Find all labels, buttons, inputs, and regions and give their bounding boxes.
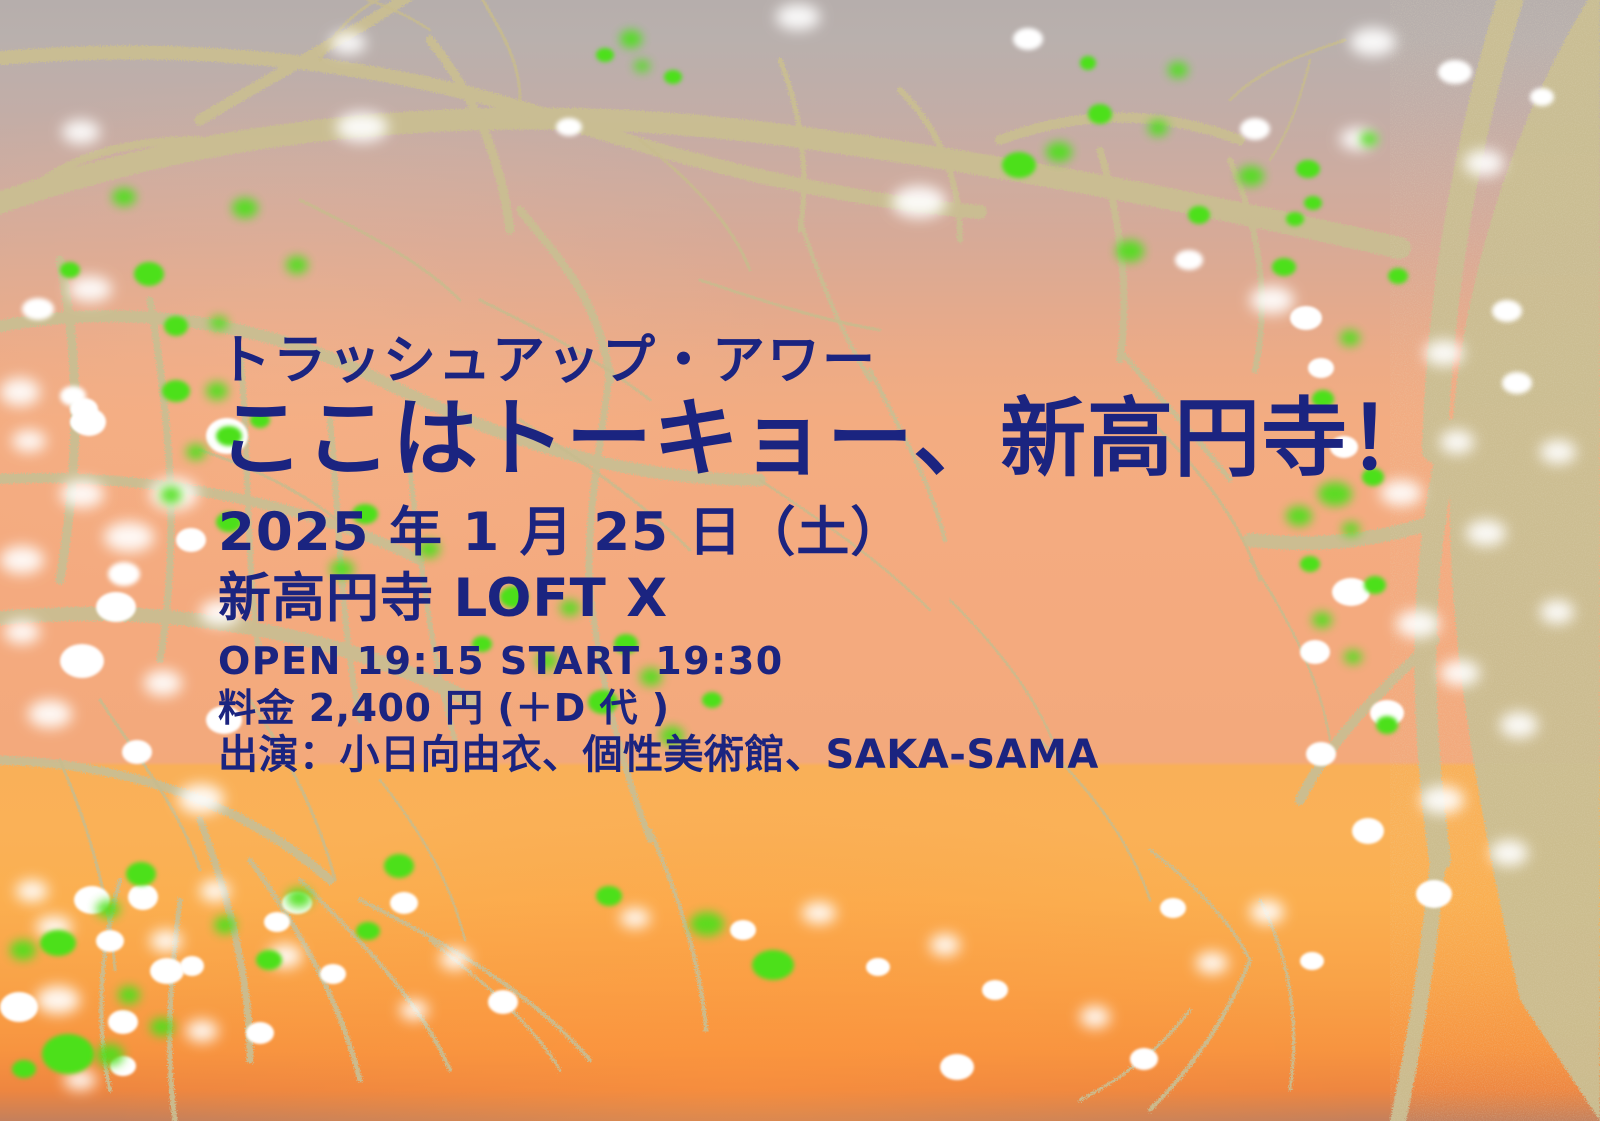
blossom-petal (60, 644, 104, 678)
blossom-petal (96, 930, 124, 952)
blossom-petal (1416, 880, 1452, 908)
blossom-petal (268, 944, 302, 968)
green-leaf (1238, 166, 1264, 186)
green-leaf (664, 70, 682, 84)
blossom-petal (982, 980, 1008, 1000)
blossom-petal (488, 990, 518, 1014)
blossom-petal (144, 670, 182, 696)
blossom-petal (1175, 250, 1203, 270)
green-leaf (1286, 212, 1304, 226)
blossom-petal (16, 880, 48, 902)
blossom-petal (4, 620, 40, 644)
blossom-petal (1440, 660, 1480, 686)
green-leaf (60, 262, 80, 278)
green-leaf (256, 950, 282, 970)
blossom-petal (940, 1054, 974, 1080)
green-leaf (1360, 132, 1378, 146)
blossom-petal (176, 528, 206, 552)
green-leaf (210, 316, 228, 330)
blossom-petal (1464, 150, 1504, 176)
green-leaf (1168, 62, 1188, 78)
blossom-petal (0, 992, 38, 1022)
blossom-petal (1352, 818, 1384, 844)
blossom-petal (62, 120, 100, 144)
green-leaf (214, 916, 236, 934)
blossom-petal (1540, 600, 1574, 624)
green-leaf (620, 30, 642, 48)
blossom-petal (866, 958, 890, 976)
blossom-petal (200, 880, 230, 902)
blossom-petal (440, 948, 470, 970)
green-leaf (42, 1034, 94, 1074)
green-leaf (384, 854, 414, 878)
blossom-petal (264, 912, 290, 932)
blossom-petal (892, 186, 946, 218)
blossom-petal (1290, 306, 1322, 330)
blossom-petal (1250, 900, 1284, 924)
green-leaf (96, 900, 120, 918)
green-leaf (356, 922, 380, 940)
green-leaf (1080, 56, 1096, 70)
blossom-petal (1160, 898, 1186, 918)
blossom-petal (36, 986, 80, 1014)
green-leaf (690, 912, 724, 936)
green-leaf (162, 380, 190, 402)
blossom-petal (320, 964, 346, 984)
blossom-petal (150, 478, 198, 510)
green-leaf (1088, 104, 1112, 124)
green-leaf (96, 1044, 124, 1066)
blossom-petal (12, 430, 46, 452)
blossom-petal (180, 956, 204, 976)
blossom-petal (1080, 1006, 1110, 1028)
event-price: 料金 2,400 円 (＋D 代 ) (218, 689, 1435, 727)
blossom-petal (400, 1000, 428, 1020)
blossom-petal (60, 386, 86, 406)
event-poster: トラッシュアップ・アワー ここはトーキョー、新高円寺！ 2025 年 1 月 2… (0, 0, 1600, 1121)
blossom-petal (1300, 952, 1324, 970)
blossom-petal (128, 884, 158, 910)
green-leaf (186, 444, 206, 460)
blossom-petal (1438, 60, 1472, 84)
green-leaf (232, 198, 258, 218)
green-leaf (1272, 258, 1296, 276)
blossom-petal (1250, 286, 1294, 314)
blossom-petal (104, 522, 154, 552)
blossom-petal (0, 378, 40, 406)
green-leaf (752, 950, 794, 980)
blossom-petal (178, 784, 224, 814)
blossom-petal (620, 908, 650, 928)
blossom-petal (70, 412, 96, 432)
blossom-petal (110, 1056, 136, 1076)
blossom-petal (28, 700, 72, 728)
blossom-petal (1240, 118, 1270, 140)
blossom-petal (802, 902, 836, 924)
blossom-petal (60, 480, 104, 508)
blossom-petal (930, 934, 960, 956)
blossom-petal (108, 1010, 138, 1034)
event-series-kicker: トラッシュアップ・アワー (218, 334, 1435, 387)
green-leaf (10, 940, 36, 960)
blossom-petal (1492, 300, 1522, 322)
event-venue: 新高円寺 LOFT X (218, 572, 1435, 625)
event-date: 2025 年 1 月 25 日（土） (218, 506, 1435, 559)
green-leaf (1304, 196, 1322, 210)
green-leaf (112, 188, 136, 206)
blossom-petal (330, 32, 366, 54)
blossom-petal (1500, 712, 1538, 738)
blossom-petal (1420, 786, 1464, 814)
event-cast: 出演：小日向由衣、個性美術館、SAKA-SAMA (218, 735, 1435, 775)
blossom-petal (72, 408, 106, 436)
blossom-petal (1466, 520, 1506, 546)
green-leaf (286, 888, 312, 908)
blossom-petal (282, 892, 312, 914)
blossom-petal (1502, 372, 1532, 394)
page-title: ここはトーキョー、新高円寺！ (218, 396, 1435, 482)
green-leaf (1046, 142, 1072, 162)
green-leaf (126, 862, 156, 886)
green-leaf (1148, 120, 1168, 136)
blossom-petal (730, 920, 756, 940)
blossom-petal (22, 298, 54, 320)
blossom-petal (1350, 28, 1396, 56)
blossom-petal (1340, 128, 1374, 150)
green-leaf (596, 886, 622, 906)
blossom-petal (1530, 88, 1554, 106)
green-leaf (1388, 268, 1408, 284)
blossom-petal (74, 886, 110, 914)
blossom-petal (96, 592, 136, 622)
blossom-petal (150, 958, 184, 984)
event-times: OPEN 19:15 START 19:30 (218, 642, 1435, 680)
green-leaf (160, 486, 182, 504)
green-leaf (118, 986, 140, 1004)
blossom-petal (186, 1020, 218, 1042)
green-leaf (286, 256, 308, 274)
green-leaf (12, 1060, 36, 1078)
green-leaf (164, 316, 188, 336)
blossom-petal (36, 916, 72, 938)
blossom-petal (1440, 430, 1474, 454)
blossom-petal (390, 892, 418, 914)
blossom-petal (0, 546, 44, 574)
blossom-petal (1540, 440, 1576, 464)
blossom-petal (70, 398, 98, 420)
blossom-petal (556, 118, 582, 136)
green-leaf (596, 48, 614, 62)
blossom-petal (776, 4, 820, 30)
blossom-petal (68, 276, 112, 302)
green-leaf (40, 930, 76, 956)
green-leaf (1296, 160, 1320, 178)
blossom-petal (150, 930, 182, 952)
blossom-petal (1196, 952, 1228, 974)
green-leaf (134, 262, 164, 286)
blossom-petal (122, 740, 152, 764)
blossom-petal (246, 1022, 274, 1044)
green-leaf (1002, 152, 1036, 178)
green-leaf (150, 1018, 174, 1036)
green-leaf (1188, 206, 1210, 224)
blossom-petal (108, 562, 140, 586)
green-leaf (634, 60, 650, 72)
blossom-petal (336, 112, 388, 142)
poster-text-block: トラッシュアップ・アワー ここはトーキョー、新高円寺！ 2025 年 1 月 2… (218, 334, 1435, 775)
blossom-petal (1013, 28, 1043, 50)
blossom-petal (64, 1070, 96, 1090)
green-leaf (1116, 240, 1144, 262)
blossom-petal (1130, 1048, 1158, 1070)
blossom-petal (1490, 840, 1528, 866)
